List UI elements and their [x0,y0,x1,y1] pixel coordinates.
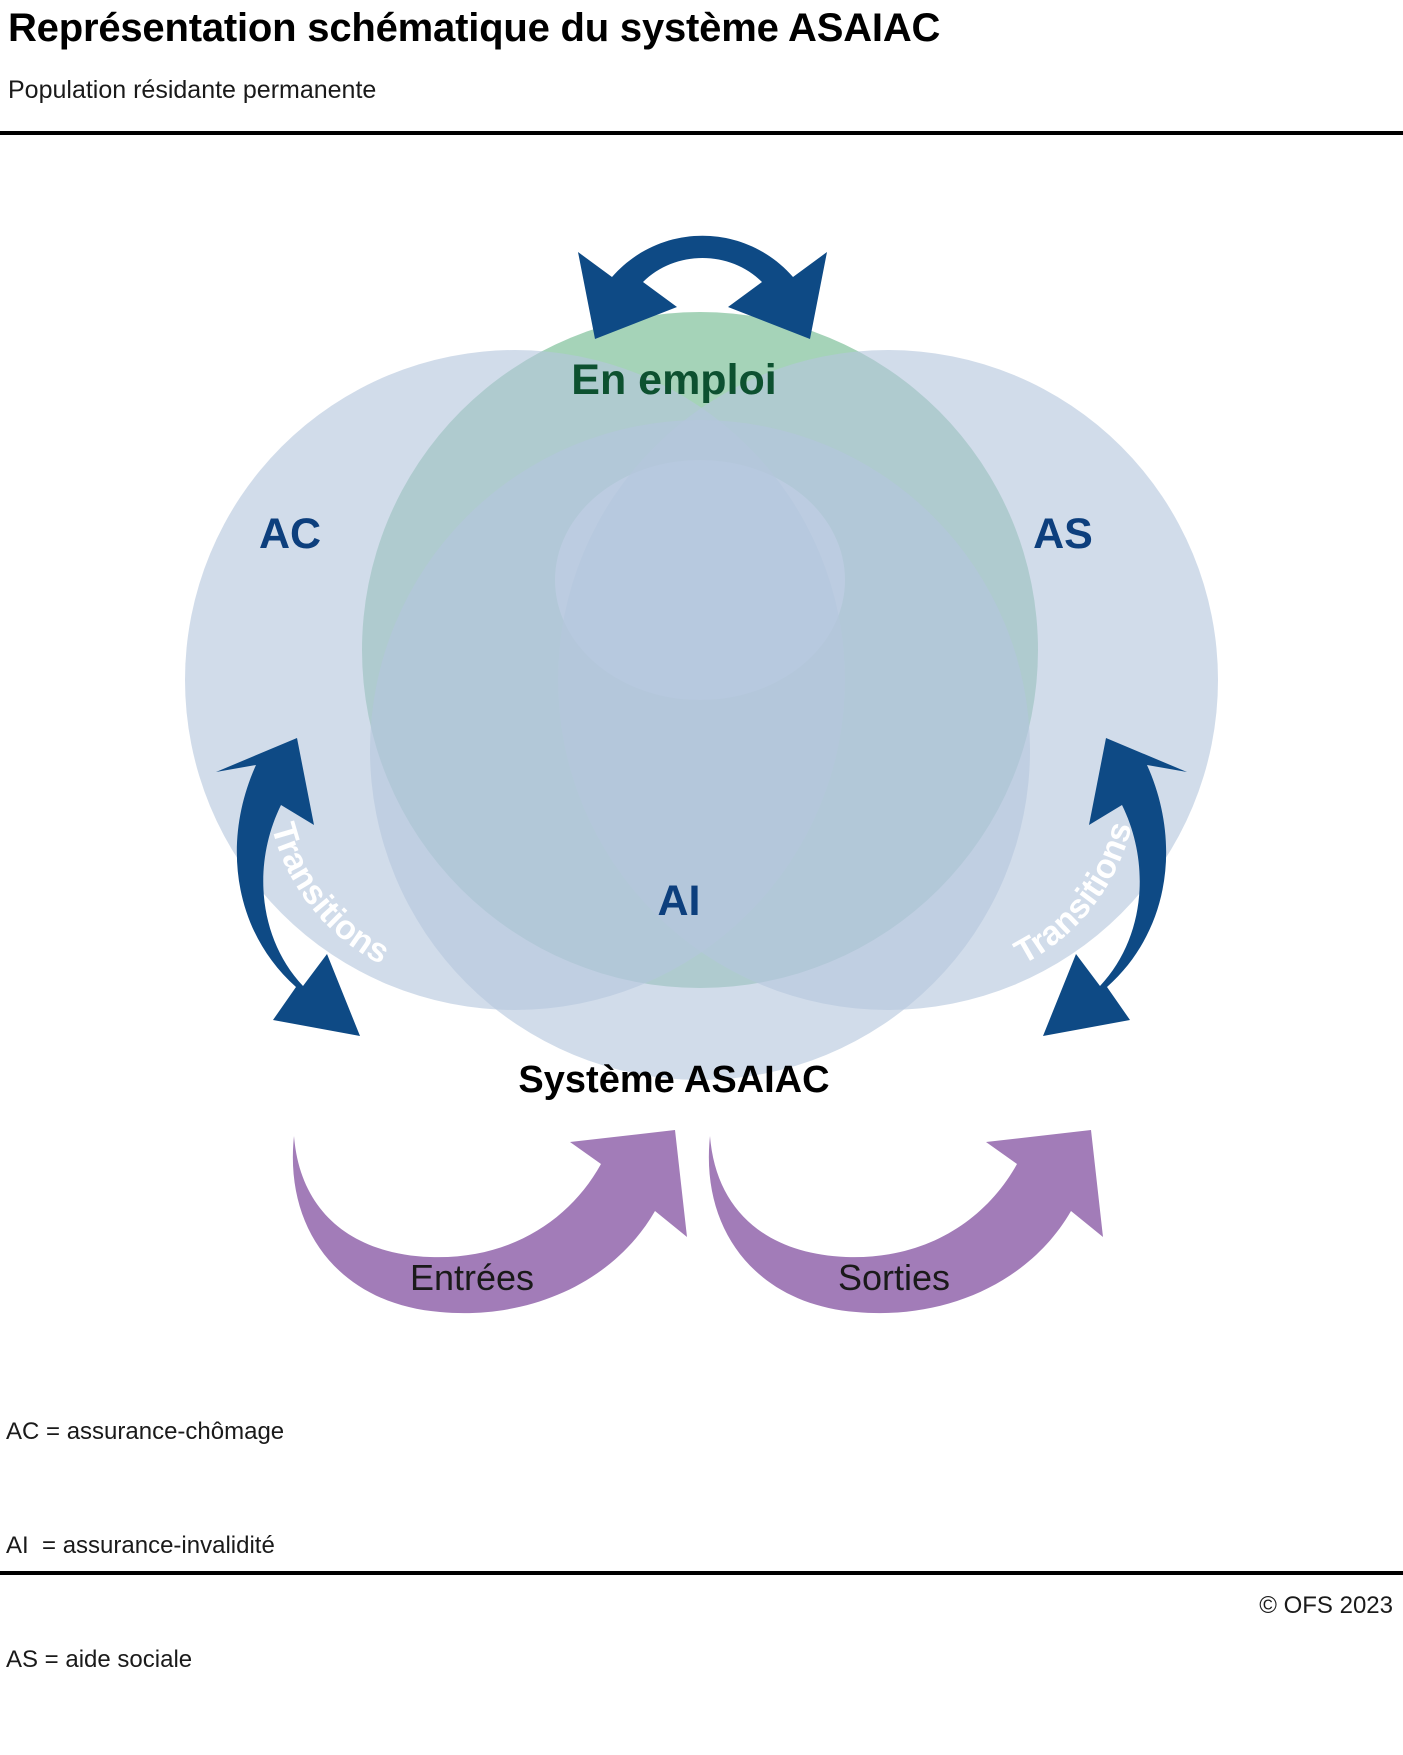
page-subtitle: Population résidante permanente [8,76,376,105]
transitions-top-label: Transitions [603,184,803,243]
copyright-notice: © OFS 2023 [1259,1592,1393,1620]
label-ai: AI [658,877,701,925]
flow-arrow-sorties: Sorties [709,1130,1103,1313]
circle-ai [370,420,1030,1080]
header-rule [0,131,1403,135]
label-en-emploi: En emploi [571,356,776,404]
footer-rule [0,1571,1403,1575]
flow-label-entrees: Entrées [410,1257,534,1298]
legend-line-ai: AI = assurance-invalidité [6,1527,284,1565]
legend-line-as: AS = aide sociale [6,1641,284,1679]
legend-line-ac: AC = assurance-chômage [6,1413,284,1451]
label-as: AS [1033,510,1093,558]
flow-label-sorties: Sorties [838,1257,950,1298]
page-title: Représentation schématique du système AS… [8,6,940,51]
chart-page: Représentation schématique du système AS… [0,0,1403,1641]
flow-arrow-entrees: Entrées [293,1130,687,1313]
venn-svg: AC AS AI En emploi Transitions Transitio… [0,140,1403,1340]
label-ac: AC [259,510,321,558]
venn-circles [185,312,1218,1080]
venn-diagram: AC AS AI En emploi Transitions Transitio… [0,140,1403,1340]
legend: AC = assurance-chômage AI = assurance-in… [6,1337,284,1755]
system-label: Système ASAIAC [518,1059,829,1101]
